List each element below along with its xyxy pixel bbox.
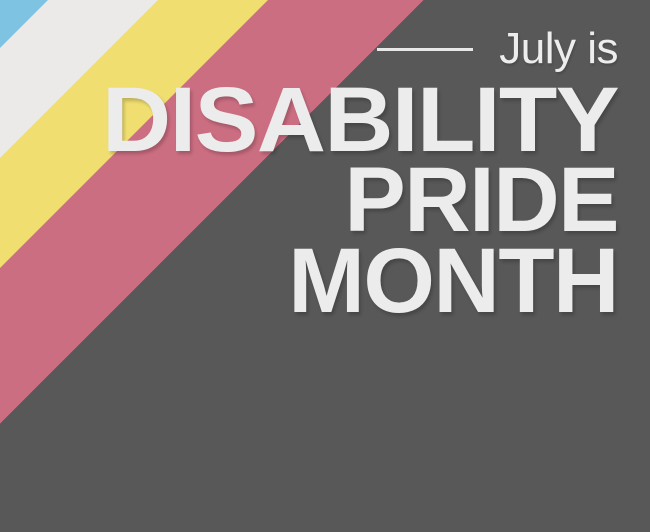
- headline-line-month: MONTH: [58, 238, 618, 324]
- headline-line-disability: DISABILITY: [36, 77, 618, 163]
- horizontal-rule-icon: [377, 48, 473, 51]
- eyebrow-label: July is: [499, 26, 618, 73]
- poster-text-block: July is DISABILITY PRIDE MONTH: [58, 26, 618, 324]
- eyebrow-row: July is: [58, 26, 618, 73]
- disability-pride-month-poster: July is DISABILITY PRIDE MONTH: [0, 0, 650, 532]
